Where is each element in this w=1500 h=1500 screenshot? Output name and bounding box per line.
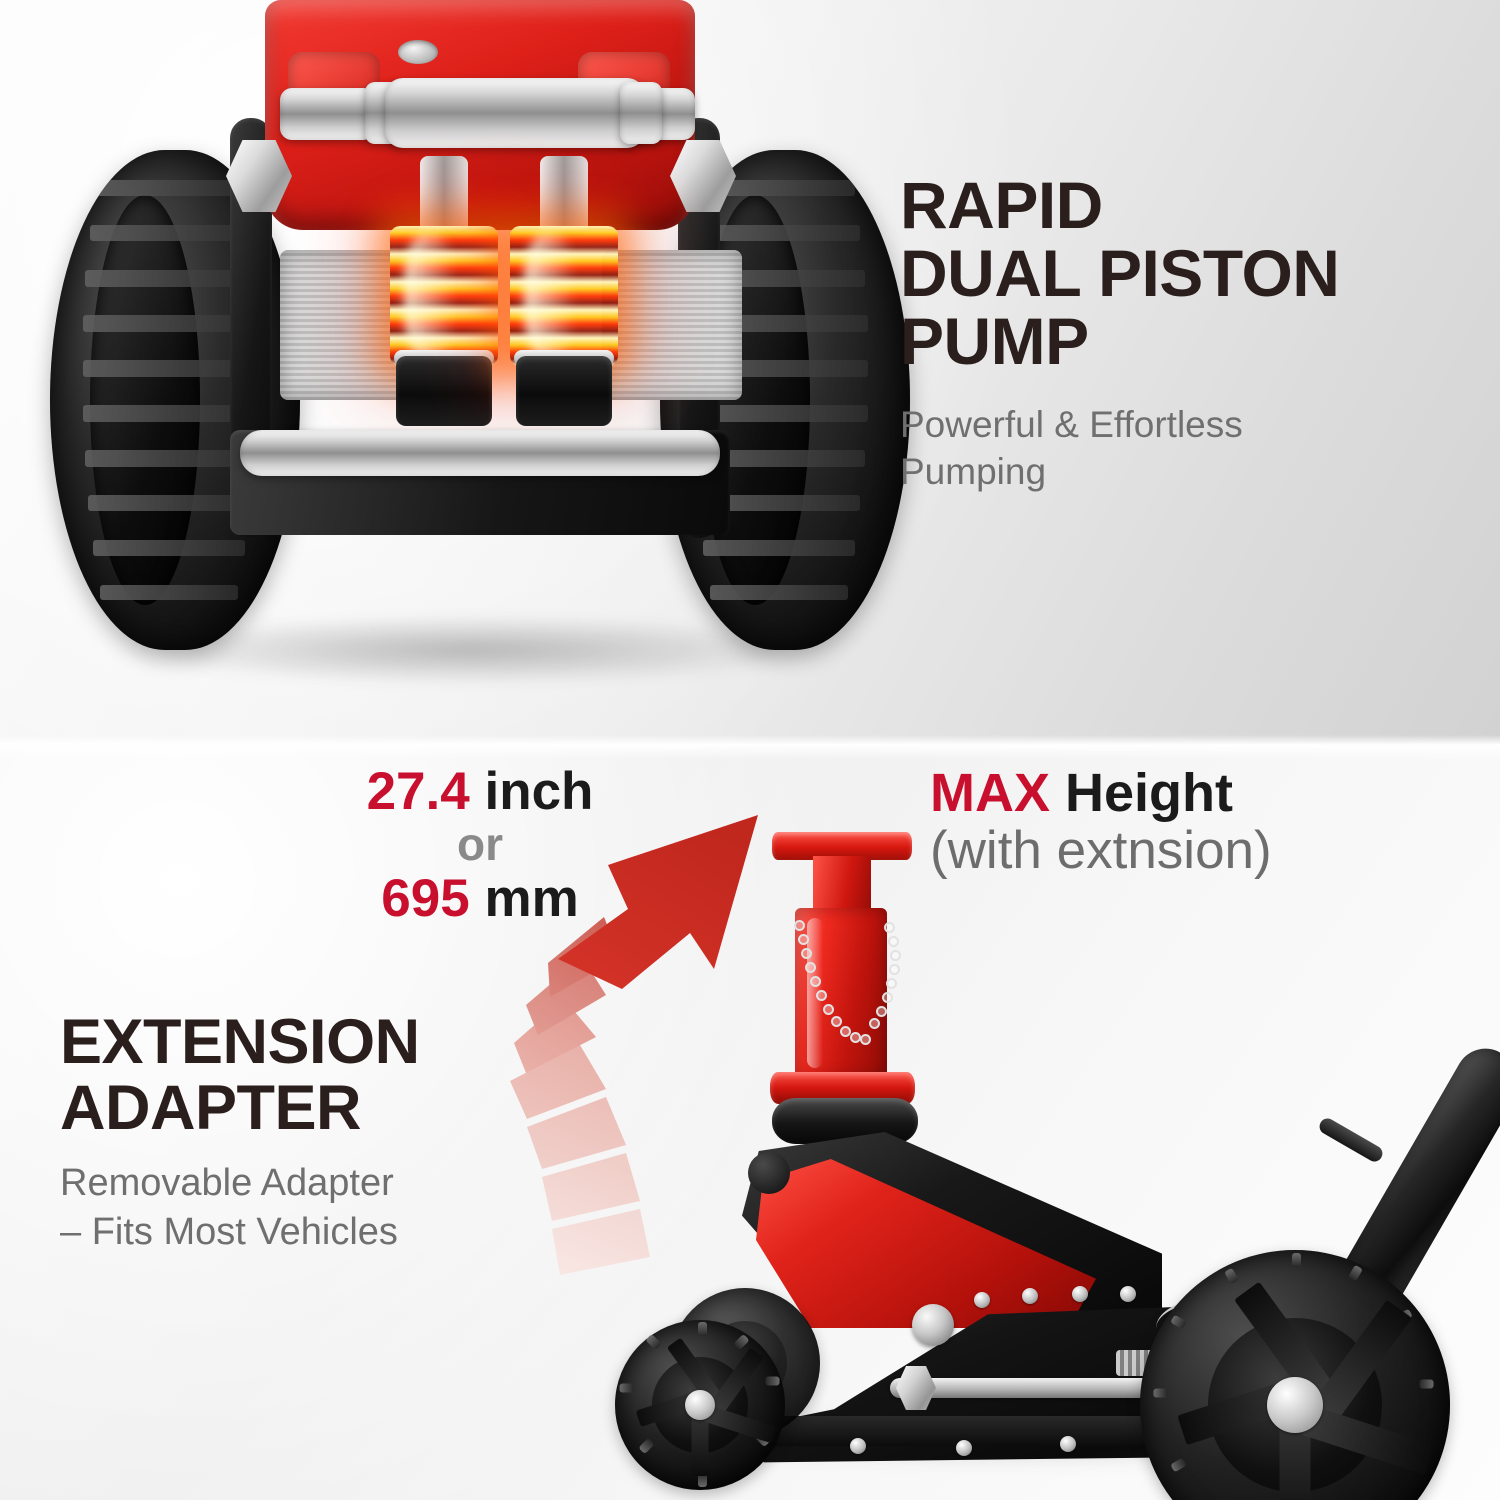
measurement-unit-inch: inch	[484, 762, 593, 821]
chassis-rivet	[956, 1440, 972, 1456]
max-height-title: MAX Height	[930, 765, 1450, 822]
jack-front-caster-wheel	[615, 1320, 785, 1490]
glowing-piston-two	[510, 178, 618, 428]
piston-base-two	[516, 356, 612, 426]
max-height-emphasis: MAX	[930, 763, 1050, 823]
piston-shaft-one	[420, 156, 468, 236]
chassis-rivet	[1022, 1288, 1038, 1304]
panel-extension-adapter: 27.4 inch or 695 mm MAX Height (with ext…	[0, 745, 1500, 1500]
product-photo-pump-closeup	[30, 0, 870, 720]
rear-wheel-axle-cap	[1267, 1377, 1323, 1433]
measurement-value-inch: 27.4	[367, 762, 470, 821]
infographic-canvas: RAPID DUAL PISTON PUMP Powerful & Effort…	[0, 0, 1500, 1500]
chassis-rivet	[974, 1292, 990, 1308]
extension-title-line-1: EXTENSION	[60, 1010, 620, 1076]
max-height-callout: MAX Height (with extnsion)	[930, 765, 1450, 881]
lower-chrome-axle	[240, 430, 720, 476]
chassis-rivet	[1120, 1286, 1136, 1302]
headline-line-1: RAPID	[900, 172, 1460, 240]
measurement-line-inch: 27.4 inch	[300, 763, 660, 820]
machined-drum-right	[602, 250, 742, 400]
adapter-retaining-chain	[792, 916, 898, 1076]
panel-divider	[0, 745, 1500, 759]
handle-bar-joint	[1317, 1116, 1386, 1165]
headline-line-2: DUAL PISTON	[900, 240, 1460, 308]
housing-pin-hole	[398, 40, 438, 64]
max-height-note: (with extnsion)	[930, 822, 1450, 880]
piston-shaft-two	[540, 156, 588, 236]
measurement-conjunction: or	[300, 820, 660, 870]
glowing-piston-one	[390, 178, 498, 428]
extension-adapter-block: EXTENSION ADAPTER Removable Adapter – Fi…	[60, 1010, 620, 1258]
headline-line-3: PUMP	[900, 308, 1460, 376]
panel-rapid-dual-piston-pump: RAPID DUAL PISTON PUMP Powerful & Effort…	[0, 0, 1500, 745]
measurement-value-mm: 695	[381, 869, 469, 928]
headline-subtitle: Powerful & Effortless Pumping	[900, 402, 1370, 496]
measurement-line-mm: 695 mm	[300, 870, 660, 927]
measurement-callout: 27.4 inch or 695 mm	[300, 763, 660, 927]
extension-subtitle-line-2: – Fits Most Vehicles	[60, 1208, 620, 1257]
chrome-pin-left	[280, 88, 375, 140]
chassis-rivet	[1072, 1286, 1088, 1302]
piston-coil-glow-one	[390, 226, 498, 366]
lift-arm-pivot	[748, 1152, 790, 1194]
product-photo-floor-jack	[560, 780, 1500, 1500]
extension-subtitle-line-1: Removable Adapter	[60, 1159, 620, 1208]
extension-title-line-2: ADAPTER	[60, 1076, 620, 1142]
max-height-label: Height	[1065, 763, 1233, 823]
chassis-rivet	[850, 1438, 866, 1454]
measurement-unit-mm: mm	[484, 869, 578, 928]
adapter-neck	[813, 856, 871, 914]
piston-coil-glow-two	[510, 226, 618, 366]
top-headline-block: RAPID DUAL PISTON PUMP Powerful & Effort…	[900, 172, 1460, 496]
piston-base-one	[396, 356, 492, 426]
roller-cap-right	[620, 82, 662, 144]
chrome-roller-shaft	[385, 78, 645, 148]
chassis-bolt-large	[912, 1304, 954, 1346]
chassis-rivet	[1060, 1436, 1076, 1452]
